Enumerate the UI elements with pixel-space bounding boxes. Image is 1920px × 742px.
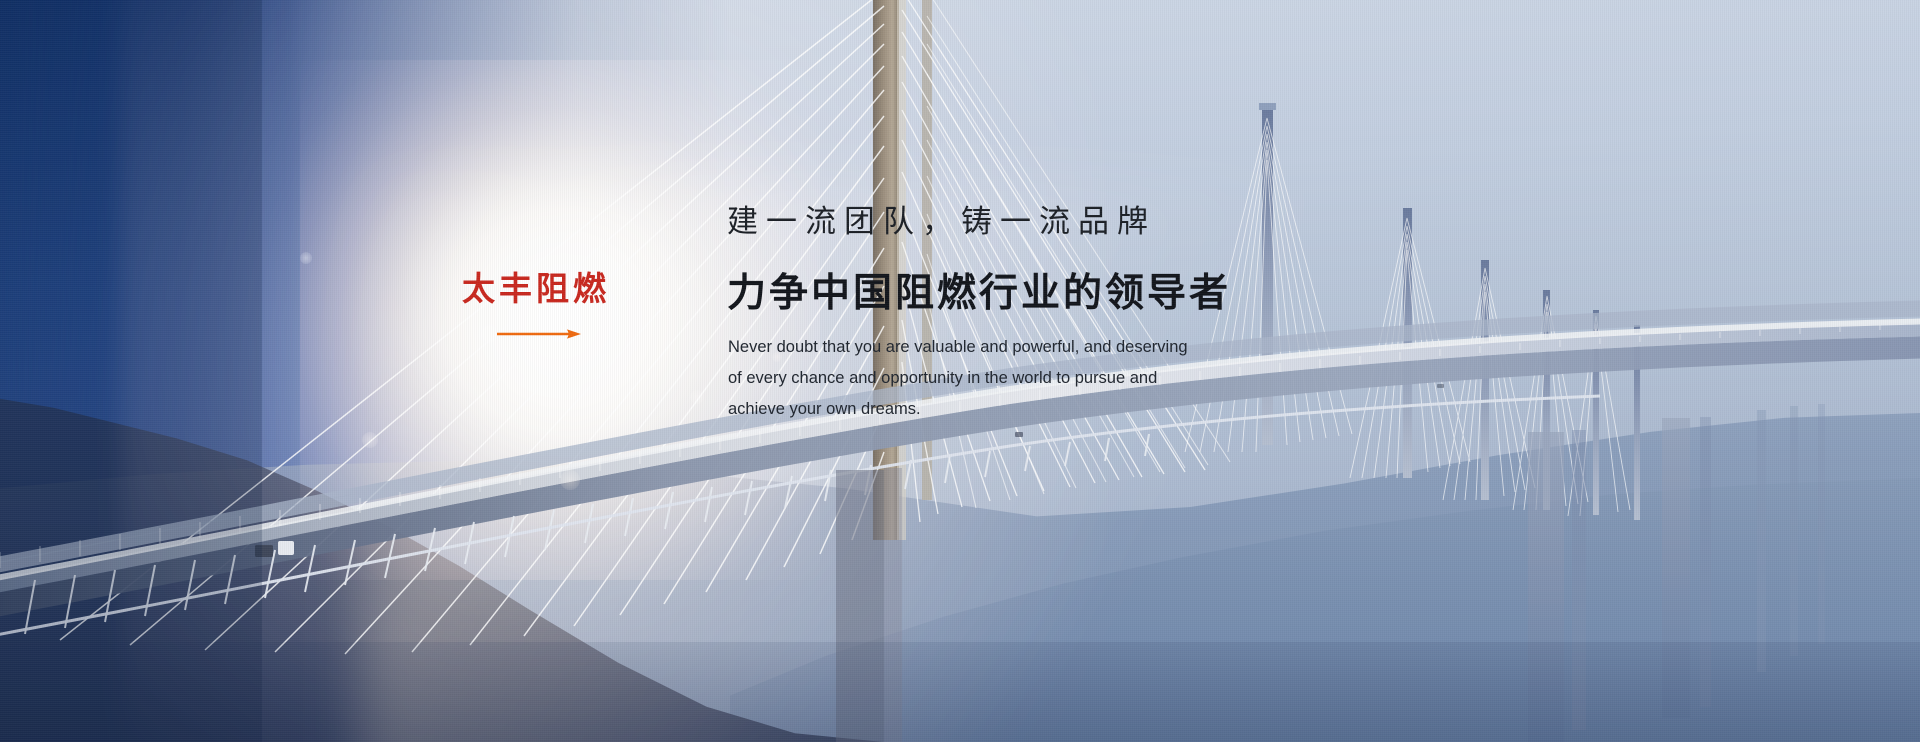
sub-copy-line-3: achieve your own dreams. [728, 394, 1308, 425]
headline-line-2: 力争中国阻燃行业的领导者 [727, 262, 1231, 318]
sub-copy-line-2: of every chance and opportunity in the w… [728, 363, 1308, 394]
hero-banner: 太丰阻燃 建一流团队，铸一流品牌 力争中国阻燃行业的领导者 Never doub… [0, 0, 1920, 742]
headline-line-1: 建一流团队，铸一流品牌 [727, 196, 1156, 241]
banner-content: 太丰阻燃 建一流团队，铸一流品牌 力争中国阻燃行业的领导者 Never doub… [0, 0, 1920, 742]
brand-logo-text: 太丰阻燃 [462, 272, 602, 305]
sub-copy-line-1: Never doubt that you are valuable and po… [728, 332, 1308, 363]
arrow-right-icon [497, 329, 581, 339]
sub-copy-block: Never doubt that you are valuable and po… [728, 332, 1308, 425]
brand-logo: 太丰阻燃 [462, 272, 602, 339]
